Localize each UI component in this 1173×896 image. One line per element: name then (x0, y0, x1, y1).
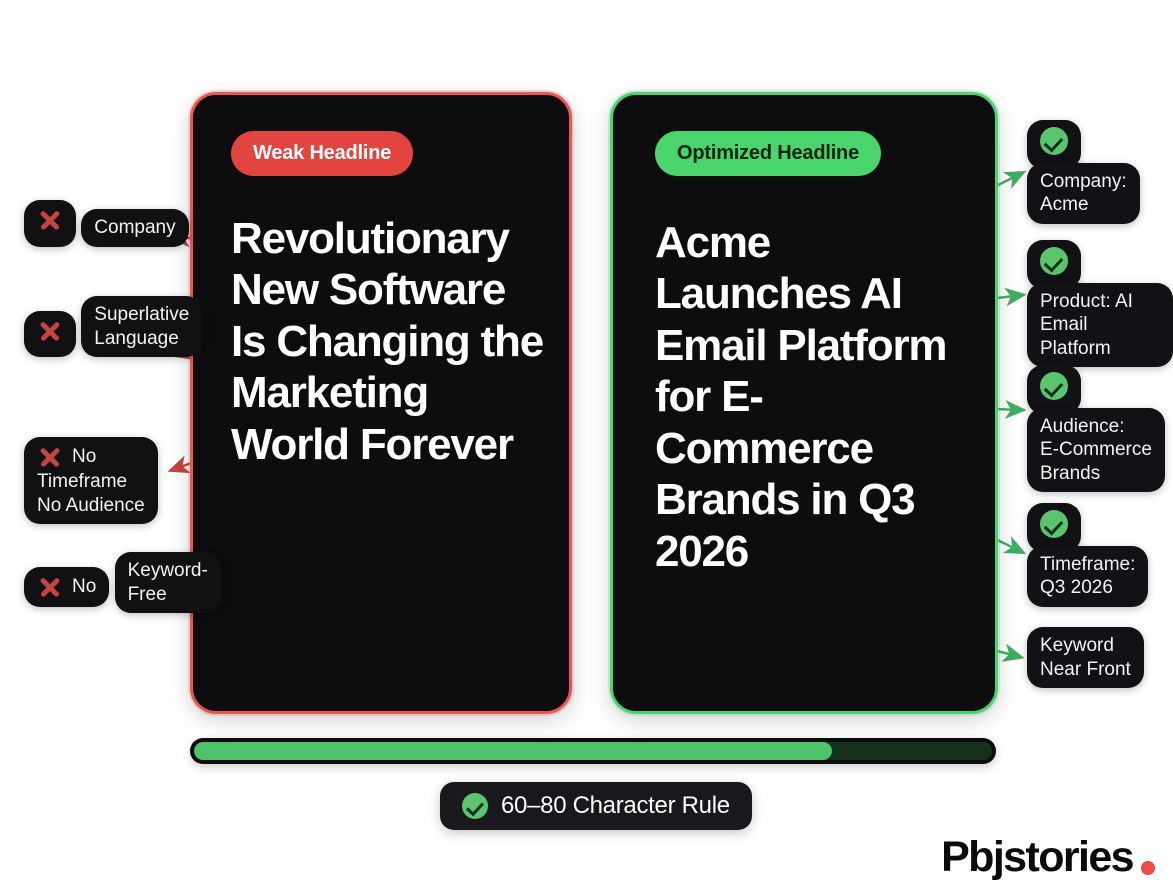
annotation-no-keyword: No Keyword- Free (24, 558, 221, 613)
annotation-no-company: Company (24, 200, 189, 247)
annotation-label-line2: Keyword- (128, 559, 208, 583)
annotation-audience-ecommerce: Audience: E-Commerce Brands (1027, 365, 1173, 492)
badge-icon-block (1027, 503, 1081, 552)
x-icon (37, 207, 63, 233)
annotation-label-line1: Timeframe: (1040, 553, 1135, 577)
annotation-company-acme: Company: Acme (1027, 120, 1173, 224)
badge-text-block: Keyword Near Front (1027, 627, 1144, 688)
character-rule-label: 60–80 Character Rule (501, 792, 730, 820)
infographic-canvas: Weak Headline Revolutionary New Software… (0, 0, 1173, 896)
annotation-label-line2: Q3 2026 (1040, 576, 1135, 600)
x-icon (37, 318, 63, 344)
badge-text-block: Keyword- Free (115, 552, 221, 613)
annotation-label-line2: Near Front (1040, 658, 1131, 682)
character-rule-badge: 60–80 Character Rule (440, 782, 752, 830)
check-circle-icon (1040, 372, 1068, 400)
check-circle-icon (1040, 127, 1068, 155)
annotation-label-line1: Keyword (1040, 634, 1131, 658)
annotation-label-line1: No (72, 445, 96, 469)
badge-icon-row: No (37, 574, 96, 600)
badge-icon-block: No (24, 567, 109, 607)
annotation-product-ai-email: Product: AI Email Platform (1027, 240, 1173, 367)
badge-text-block: Timeframe: Q3 2026 (1027, 546, 1148, 607)
weak-headline-pill: Weak Headline (231, 131, 413, 176)
badge-text-block: Superlative Language (81, 296, 202, 357)
x-icon (37, 444, 63, 470)
annotation-label-line1: Product: AI (1040, 290, 1160, 314)
annotation-label-line2: Timeframe (37, 470, 145, 494)
annotation-label-line3: No Audience (37, 494, 145, 518)
annotation-label-line1: Company: (1040, 170, 1127, 194)
annotation-label-line1: No (72, 575, 96, 599)
annotation-label-line3: Brands (1040, 462, 1152, 486)
badge-text-block: Product: AI Email Platform (1027, 283, 1173, 368)
badge-icon-block (1027, 365, 1081, 414)
character-count-progress-bar (190, 738, 996, 764)
annotation-label: Company (94, 217, 175, 238)
check-circle-icon (1040, 510, 1068, 538)
annotation-timeframe-q3: Timeframe: Q3 2026 (1027, 503, 1173, 607)
annotation-label-line1: Superlative (94, 303, 189, 327)
annotation-label-line1: Audience: (1040, 415, 1152, 439)
annotation-label-line2: E-Commerce (1040, 438, 1152, 462)
annotation-label-line2: Language (94, 327, 189, 351)
badge-icon-block (24, 200, 76, 247)
annotation-label-line2: Acme (1040, 193, 1127, 217)
weak-headline-text: Revolutionary New Software Is Changing t… (231, 213, 543, 470)
badge-text-block: Company: Acme (1027, 163, 1140, 224)
brand-logo: Pbjstories (941, 833, 1155, 882)
annotation-label-line2: Email Platform (1040, 313, 1160, 360)
badge-icon-block (1027, 120, 1081, 169)
optimized-headline-card: Optimized Headline Acme Launches AI Emai… (610, 92, 998, 714)
optimized-headline-pill: Optimized Headline (655, 131, 881, 176)
annotation-label-line3: Free (128, 583, 208, 607)
brand-dot-icon (1141, 861, 1155, 875)
badge-icon-block (1027, 240, 1081, 289)
annotation-keyword-near-front: Keyword Near Front (1027, 627, 1144, 688)
badge-icon-block (24, 311, 76, 358)
weak-headline-card: Weak Headline Revolutionary New Software… (190, 92, 572, 714)
brand-logo-text: Pbjstories (941, 833, 1133, 882)
badge-text-block: Company (81, 209, 188, 247)
progress-fill (194, 742, 832, 760)
optimized-headline-text: Acme Launches AI Email Platform for E-Co… (655, 217, 969, 577)
check-circle-icon (1040, 247, 1068, 275)
check-circle-icon (462, 793, 488, 819)
annotation-no-timeframe: No Timeframe No Audience (24, 437, 158, 524)
badge-text-block: Audience: E-Commerce Brands (1027, 408, 1165, 493)
progress-track-inner (194, 742, 992, 760)
badge-icon-row: No (37, 444, 145, 470)
annotation-superlative-language: Superlative Language (24, 302, 202, 357)
x-icon (37, 574, 63, 600)
badge-text-block: No Timeframe No Audience (24, 437, 158, 524)
